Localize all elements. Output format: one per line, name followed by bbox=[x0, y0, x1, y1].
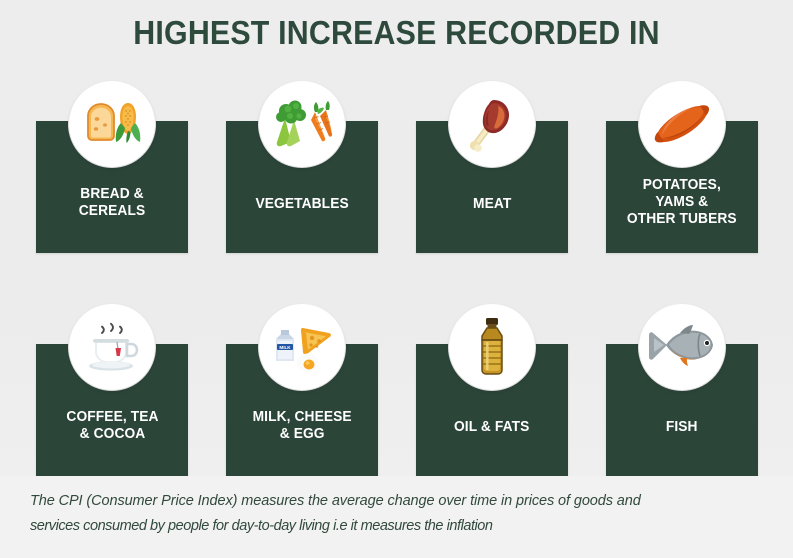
card-label: MILK, CHEESE & EGG bbox=[249, 409, 356, 443]
category-card-meat[interactable]: MEAT bbox=[416, 121, 568, 253]
footer-line-2: services consumed by people for day-to-d… bbox=[30, 514, 770, 539]
category-row-1: BREAD & CEREALS bbox=[36, 121, 758, 253]
footer-description: The CPI (Consumer Price Index) measures … bbox=[30, 489, 770, 539]
category-card-coffee-tea-cocoa[interactable]: COFFEE, TEA & COCOA bbox=[36, 344, 188, 476]
page-title: HIGHEST INCREASE RECORDED IN bbox=[32, 14, 762, 52]
broccoli-and-carrot-icon bbox=[269, 96, 335, 152]
card-label: FISH bbox=[662, 419, 701, 436]
hot-beverage-cup-icon bbox=[81, 317, 143, 377]
card-label: OIL & FATS bbox=[450, 419, 533, 436]
card-label: MEAT bbox=[469, 196, 515, 213]
icon-bubble bbox=[639, 81, 725, 167]
oil-bottle-icon bbox=[470, 316, 514, 378]
icon-bubble bbox=[259, 81, 345, 167]
poultry-leg-icon bbox=[464, 94, 520, 154]
infographic-page: HIGHEST INCREASE RECORDED IN bbox=[0, 0, 793, 558]
category-row-2: COFFEE, TEA & COCOA bbox=[36, 344, 758, 476]
icon-bubble bbox=[449, 304, 535, 390]
category-card-fish[interactable]: FISH bbox=[606, 344, 758, 476]
category-card-potatoes-yams-tubers[interactable]: POTATOES, YAMS & OTHER TUBERS bbox=[606, 121, 758, 253]
footer-line-1: The CPI (Consumer Price Index) measures … bbox=[30, 489, 770, 514]
category-card-oil-fats[interactable]: OIL & FATS bbox=[416, 344, 568, 476]
card-label: BREAD & CEREALS bbox=[75, 186, 149, 220]
category-card-vegetables[interactable]: VEGETABLES bbox=[226, 121, 378, 253]
icon-bubble bbox=[69, 81, 155, 167]
svg-text:MILK: MILK bbox=[279, 345, 291, 350]
card-label: COFFEE, TEA & COCOA bbox=[62, 409, 162, 443]
icon-bubble bbox=[639, 304, 725, 390]
icon-bubble: MILK bbox=[259, 304, 345, 390]
card-label: POTATOES, YAMS & OTHER TUBERS bbox=[623, 177, 740, 228]
category-grid: BREAD & CEREALS bbox=[36, 121, 758, 476]
milk-cheese-egg-icon: MILK bbox=[267, 316, 337, 378]
sweet-potato-icon bbox=[647, 96, 717, 152]
category-card-bread-cereals[interactable]: BREAD & CEREALS bbox=[36, 121, 188, 253]
icon-bubble bbox=[449, 81, 535, 167]
card-label: VEGETABLES bbox=[252, 196, 353, 213]
icon-bubble bbox=[69, 304, 155, 390]
category-card-milk-cheese-egg[interactable]: MILK MILK, CHEESE & EGG bbox=[226, 344, 378, 476]
fish-icon bbox=[647, 323, 717, 371]
bread-and-corn-icon bbox=[80, 98, 144, 150]
